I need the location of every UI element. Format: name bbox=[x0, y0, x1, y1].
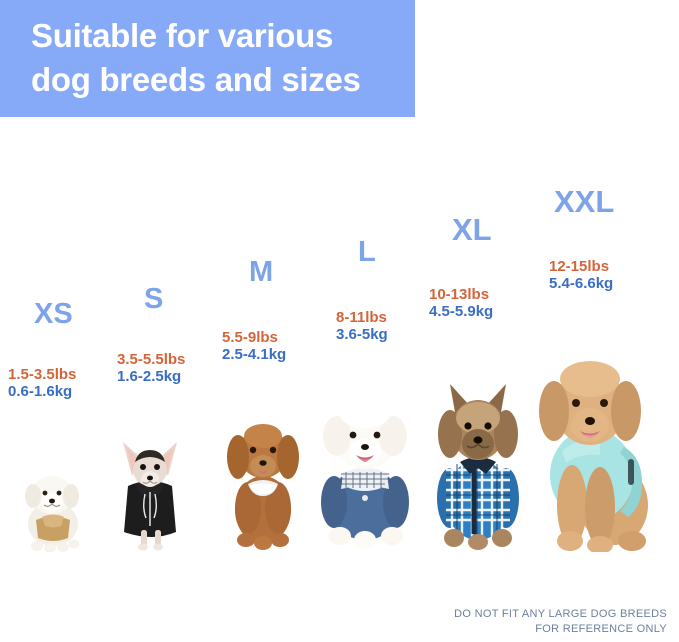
size-group-s: S 3.5-5.5lbs 1.6-2.5kg bbox=[117, 285, 185, 385]
weight-lbs-m: 5.5-9lbs bbox=[222, 329, 286, 346]
page-title: Suitable for various dog breeds and size… bbox=[31, 14, 415, 102]
weight-lbs-l: 8-11lbs bbox=[336, 309, 388, 326]
toy-poodle-icon bbox=[218, 412, 308, 552]
weight-kg-l: 3.6-5kg bbox=[336, 326, 388, 343]
size-chart-page: Suitable for various dog breeds and size… bbox=[0, 0, 679, 642]
size-letter-s: S bbox=[144, 285, 185, 314]
apricot-poodle-icon bbox=[528, 355, 658, 552]
footer-line-2: FOR REFERENCE ONLY bbox=[454, 622, 667, 637]
size-group-xxl: XXL 12-15lbs 5.4-6.6kg bbox=[549, 186, 614, 292]
size-letter-l: L bbox=[358, 238, 388, 267]
weight-block-l: 8-11lbs 3.6-5kg bbox=[336, 309, 388, 343]
size-letter-xl: XL bbox=[452, 214, 493, 245]
dog-photo-xs bbox=[10, 462, 96, 552]
size-letter-xs: XS bbox=[34, 300, 76, 329]
weight-kg-xxl: 5.4-6.6kg bbox=[549, 275, 614, 292]
dog-photo-l bbox=[310, 394, 420, 552]
chihuahua-icon bbox=[110, 434, 190, 552]
size-group-l: L 8-11lbs 3.6-5kg bbox=[336, 238, 388, 343]
weight-lbs-xl: 10-13lbs bbox=[429, 286, 493, 303]
size-group-m: M 5.5-9lbs 2.5-4.1kg bbox=[222, 258, 286, 363]
weight-kg-xs: 0.6-1.6kg bbox=[8, 383, 76, 400]
weight-lbs-xs: 1.5-3.5lbs bbox=[8, 366, 76, 383]
dog-photo-xl bbox=[428, 382, 528, 552]
size-group-xl: XL 10-13lbs 4.5-5.9kg bbox=[429, 214, 493, 320]
weight-lbs-xxl: 12-15lbs bbox=[549, 258, 614, 275]
yorkshire-terrier-icon bbox=[428, 382, 528, 552]
weight-block-xs: 1.5-3.5lbs 0.6-1.6kg bbox=[8, 366, 76, 400]
size-letter-m: M bbox=[249, 258, 286, 287]
weight-kg-xl: 4.5-5.9kg bbox=[429, 303, 493, 320]
weight-block-s: 3.5-5.5lbs 1.6-2.5kg bbox=[117, 351, 185, 385]
weight-block-xxl: 12-15lbs 5.4-6.6kg bbox=[549, 258, 614, 292]
dog-photo-m bbox=[218, 412, 308, 552]
footer-line-1: DO NOT FIT ANY LARGE DOG BREEDS bbox=[454, 607, 667, 622]
maltese-puppy-icon bbox=[10, 462, 96, 552]
size-group-xs: XS 1.5-3.5lbs 0.6-1.6kg bbox=[8, 300, 76, 400]
weight-block-m: 5.5-9lbs 2.5-4.1kg bbox=[222, 329, 286, 363]
dog-photo-xxl bbox=[528, 355, 658, 552]
size-letter-xxl: XXL bbox=[554, 186, 614, 217]
bichon-frise-icon bbox=[310, 394, 420, 552]
dog-photo-s bbox=[110, 434, 190, 552]
weight-kg-s: 1.6-2.5kg bbox=[117, 368, 185, 385]
footer-disclaimer: DO NOT FIT ANY LARGE DOG BREEDS FOR REFE… bbox=[454, 607, 667, 637]
weight-kg-m: 2.5-4.1kg bbox=[222, 346, 286, 363]
header-banner: Suitable for various dog breeds and size… bbox=[0, 0, 415, 117]
weight-lbs-s: 3.5-5.5lbs bbox=[117, 351, 185, 368]
weight-block-xl: 10-13lbs 4.5-5.9kg bbox=[429, 286, 493, 320]
